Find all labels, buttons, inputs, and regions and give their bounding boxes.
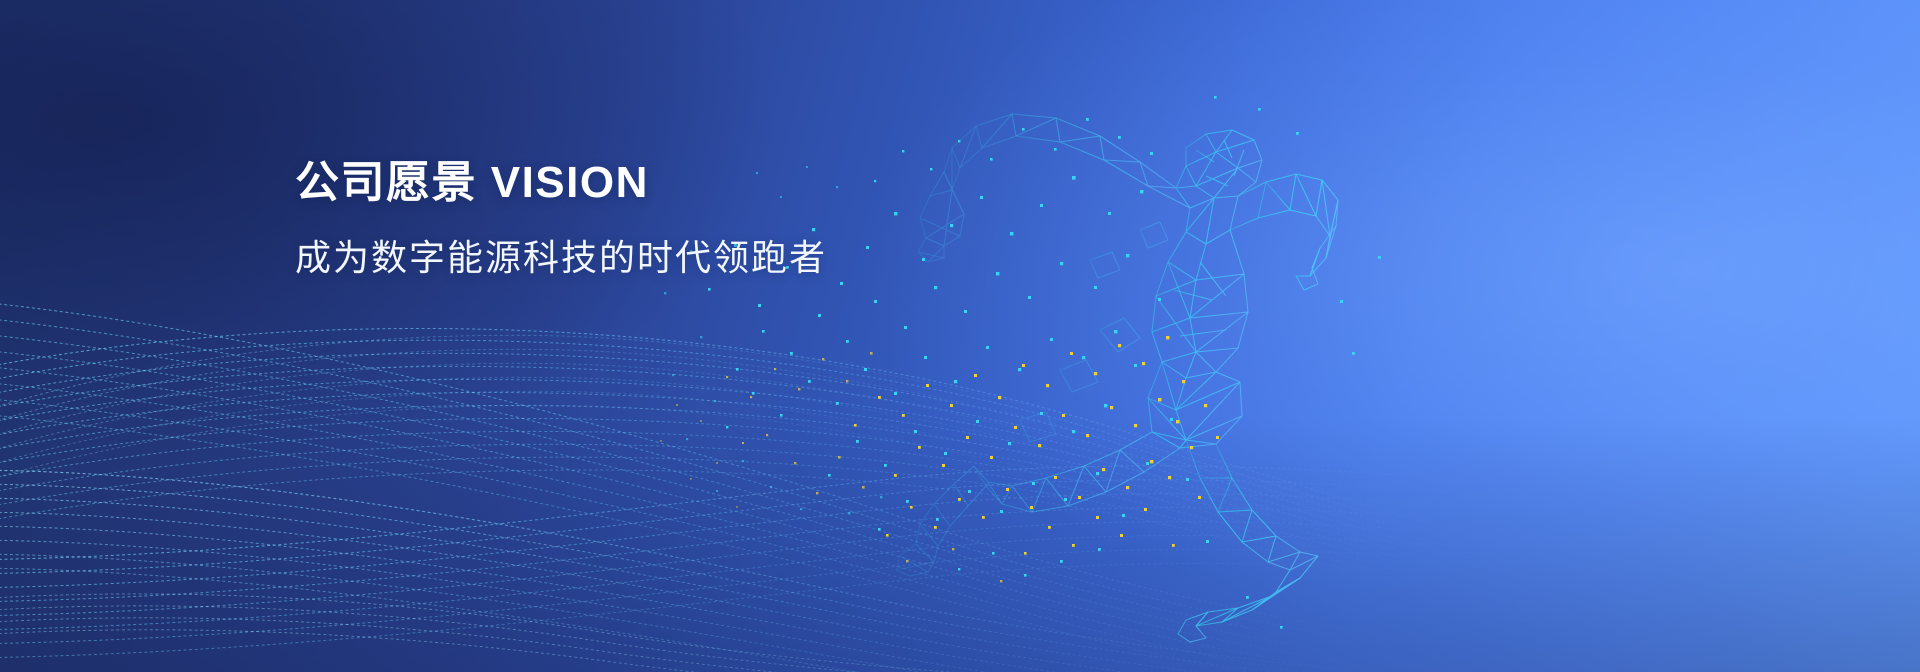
running-figure-graphic xyxy=(0,0,1920,672)
banner-copy: 公司愿景 VISION 成为数字能源科技的时代领跑者 xyxy=(295,158,1055,281)
page-title: 公司愿景 VISION xyxy=(295,158,1055,209)
page-subtitle: 成为数字能源科技的时代领跑者 xyxy=(295,235,1055,282)
yellow-particles xyxy=(660,336,1219,582)
vision-hero-banner: 公司愿景 VISION 成为数字能源科技的时代领跑者 xyxy=(0,0,1920,672)
